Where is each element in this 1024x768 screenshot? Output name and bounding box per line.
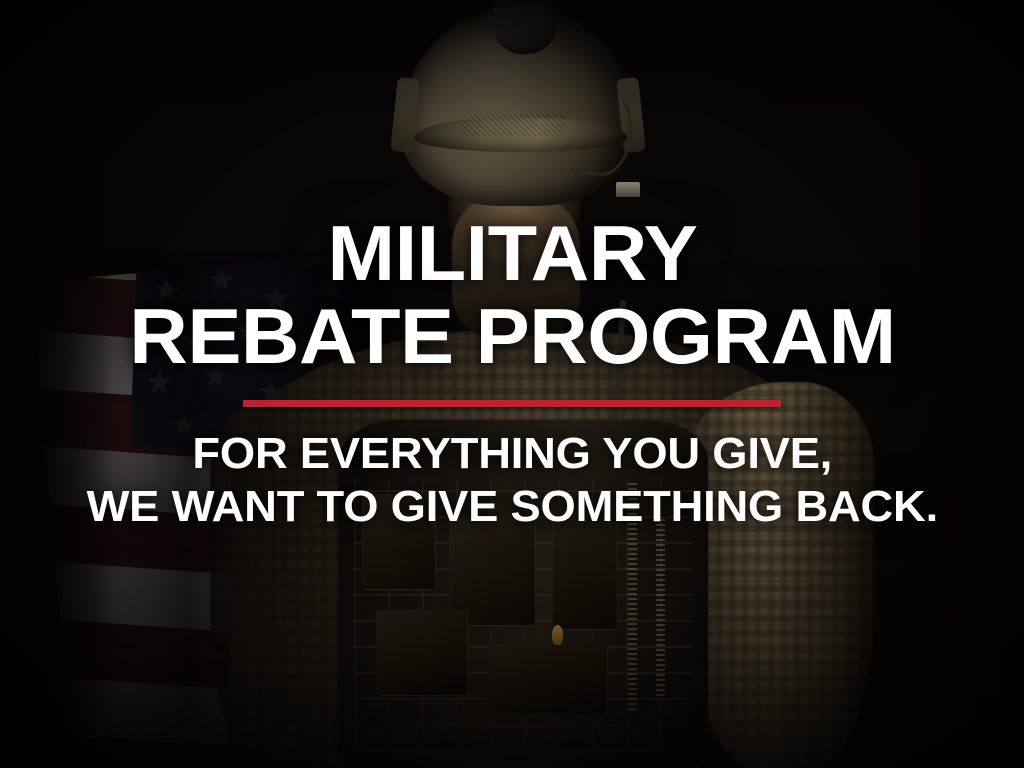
uniform-amber-detail bbox=[552, 625, 563, 645]
background-photo bbox=[0, 0, 1024, 768]
soldier-right-arm bbox=[690, 382, 875, 768]
nvg-mount-icon bbox=[491, 0, 560, 58]
tactical-vest bbox=[338, 420, 708, 768]
helmet-id-tag bbox=[616, 182, 640, 197]
helmet-velcro-patch bbox=[461, 114, 565, 136]
military-rebate-poster: MILITARY REBATE PROGRAM FOR EVERYTHING Y… bbox=[0, 0, 1024, 768]
helmet-rail-left bbox=[390, 77, 420, 153]
tactical-helmet bbox=[400, 6, 636, 206]
